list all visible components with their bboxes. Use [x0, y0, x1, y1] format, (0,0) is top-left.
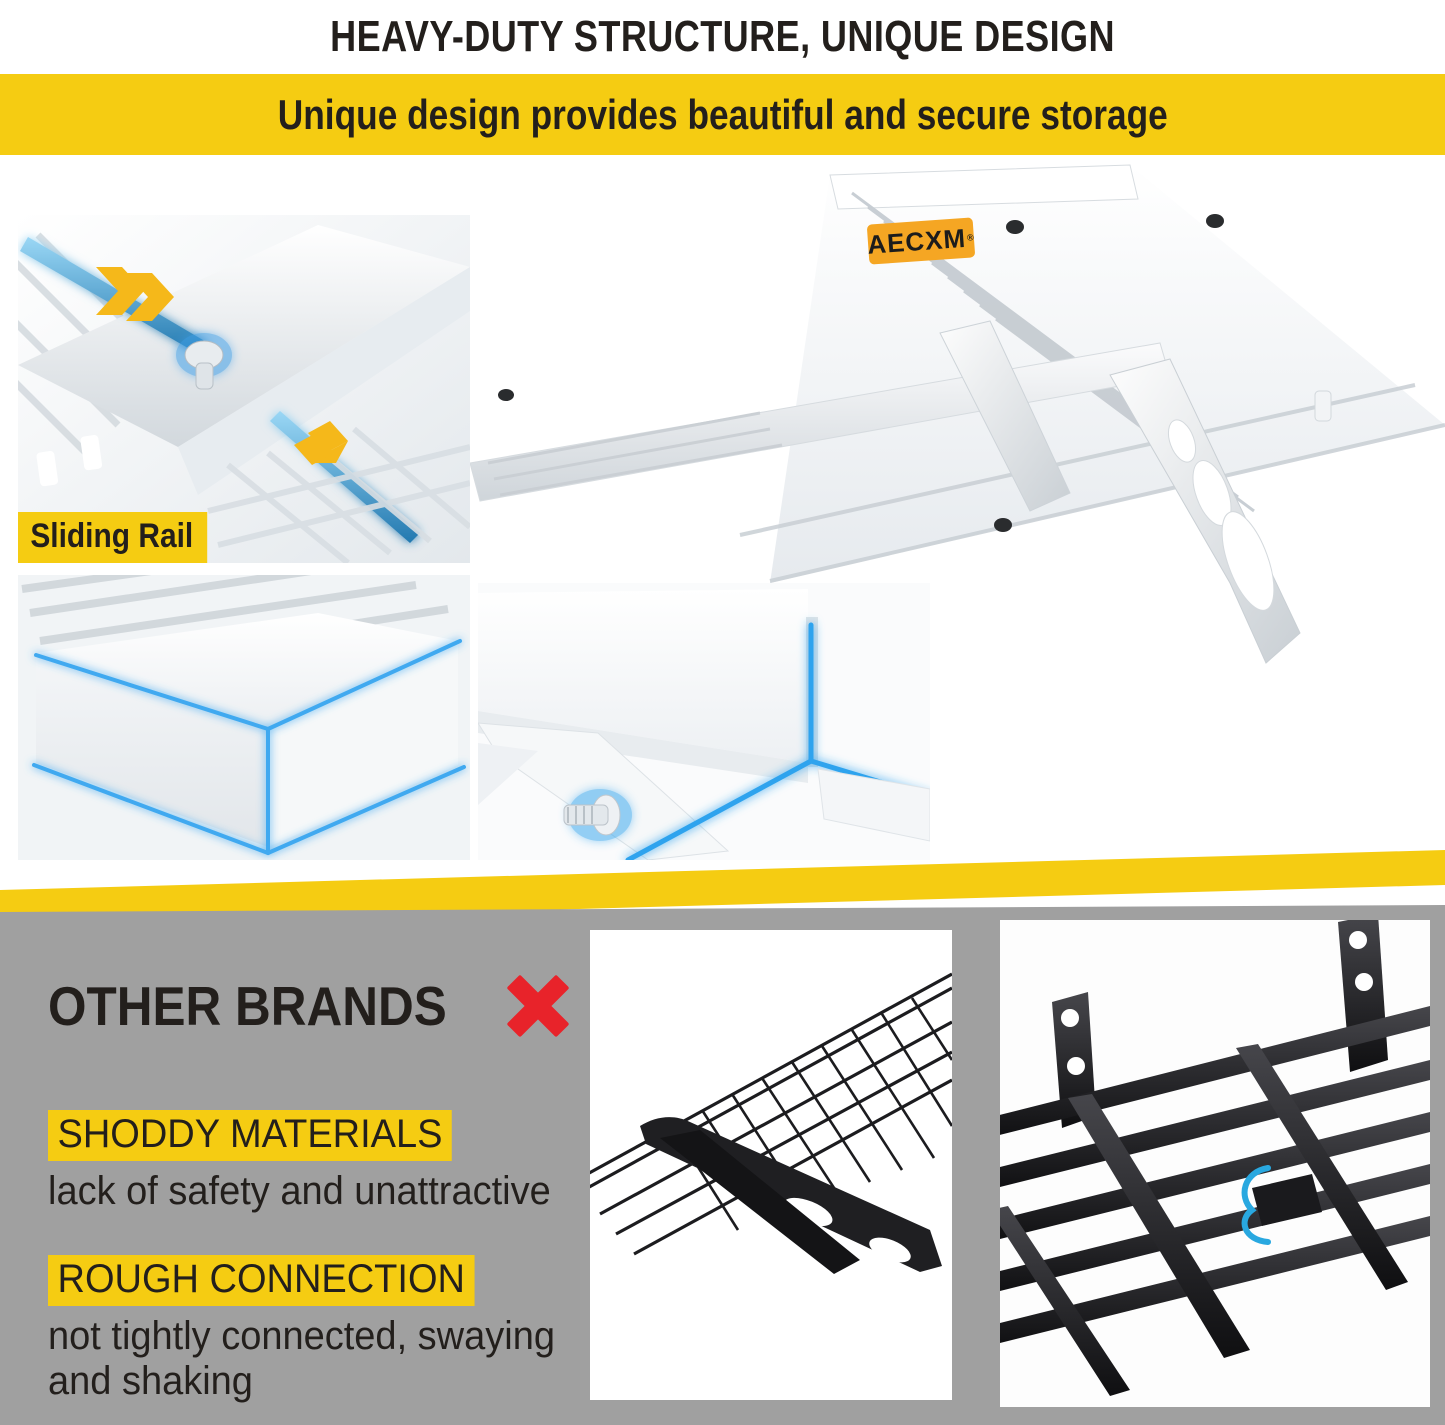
bullet-2-heading: ROUGH CONNECTION	[48, 1255, 474, 1306]
subtitle-banner: Unique design provides beautiful and sec…	[0, 74, 1445, 155]
sliding-rail-illustration	[18, 215, 470, 563]
comparison-title-group: OTHER BRANDS	[48, 973, 571, 1039]
bullet-2-body: not tightly connected, swaying and shaki…	[48, 1314, 561, 1404]
brand-badge-text: AECXM	[866, 222, 967, 260]
brand-badge: AECXM®	[867, 217, 976, 264]
competitor-mesh-photo	[590, 930, 952, 1400]
black-frame-rack-illustration	[1000, 920, 1430, 1407]
headline-bar: HEAVY-DUTY STRUCTURE, UNIQUE DESIGN	[0, 0, 1445, 74]
page-subtitle: Unique design provides beautiful and sec…	[277, 91, 1167, 139]
page-title: HEAVY-DUTY STRUCTURE, UNIQUE DESIGN	[330, 12, 1115, 62]
panel-sliding-rail: Sliding Rail	[18, 215, 470, 563]
competitor-frame-photo	[1000, 920, 1430, 1407]
reinforced-edge-illustration	[18, 575, 470, 860]
panel-reinforced-edge	[18, 575, 470, 860]
bullet-1-heading: SHODDY MATERIALS	[48, 1110, 452, 1161]
comparison-section: OTHER BRANDS SHODDY MATERIALS lack of sa…	[0, 905, 1445, 1425]
panel-bolt-joint	[478, 583, 930, 860]
sliding-rail-label: Sliding Rail	[18, 512, 207, 563]
product-infographic: HEAVY-DUTY STRUCTURE, UNIQUE DESIGN Uniq…	[0, 0, 1445, 1425]
comparison-title: OTHER BRANDS	[48, 974, 447, 1038]
bolt-joint-illustration	[478, 583, 930, 860]
trademark-symbol: ®	[967, 232, 975, 243]
comparison-bullet-2: ROUGH CONNECTION not tightly connected, …	[48, 1255, 588, 1404]
x-mark-icon	[505, 973, 571, 1039]
black-mesh-shelf-illustration	[590, 930, 952, 1400]
bullet-1-body: lack of safety and unattractive	[48, 1169, 551, 1214]
feature-gallery: AECXM®	[0, 155, 1445, 890]
comparison-bullet-1: SHODDY MATERIALS lack of safety and unat…	[48, 1110, 577, 1214]
